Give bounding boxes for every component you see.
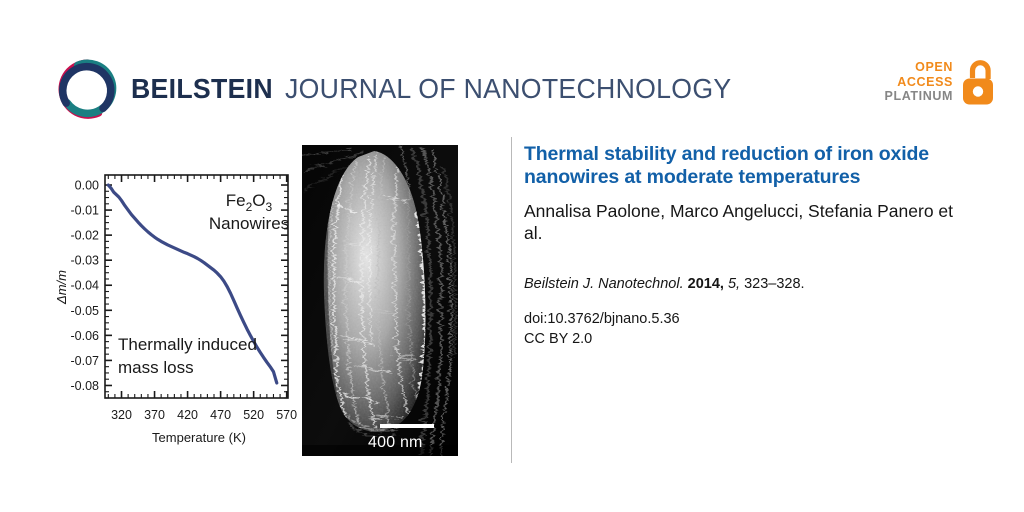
article-license[interactable]: CC BY 2.0 <box>524 329 989 350</box>
chart-y-tick-label: -0.06 <box>71 329 100 343</box>
chart-x-tick-label: 370 <box>144 408 165 422</box>
open-access-badge: OPEN ACCESS PLATINUM <box>885 58 996 106</box>
oa-line-open: OPEN <box>915 60 953 75</box>
citation-year: 2014, <box>688 276 724 292</box>
oa-line-platinum: PLATINUM <box>885 89 953 104</box>
sem-scale-bar <box>380 424 434 428</box>
citation-volume: 5, <box>728 276 740 292</box>
chart-x-tick-labels: 320370420470520570 <box>111 408 297 422</box>
chart-x-tick-label: 420 <box>177 408 198 422</box>
oa-line-access: ACCESS <box>897 75 953 90</box>
chart-y-tick-label: -0.04 <box>71 279 100 293</box>
triple-arc-logo-svg <box>52 56 122 124</box>
vertical-divider <box>511 137 512 463</box>
open-access-label-stack: OPEN ACCESS PLATINUM <box>885 60 953 104</box>
article-title[interactable]: Thermal stability and reduction of iron … <box>524 143 970 189</box>
tga-chart: 0.00-0.01-0.02-0.03-0.04-0.05-0.06-0.07-… <box>52 145 297 453</box>
figure-panel: 0.00-0.01-0.02-0.03-0.04-0.05-0.06-0.07-… <box>0 137 511 467</box>
chart-annotation-nanowires: Nanowires <box>209 214 289 233</box>
chart-y-tick-label: -0.05 <box>71 304 100 318</box>
chart-y-tick-label: 0.00 <box>75 179 99 193</box>
chart-y-axis-label: Δm/m <box>54 270 69 305</box>
chart-annotation-process-line2: mass loss <box>118 358 194 377</box>
sem-scale-bar-label: 400 nm <box>368 434 423 452</box>
sem-micrograph-svg <box>302 145 458 456</box>
sem-micrograph: 400 nm <box>302 145 458 456</box>
article-citation: Beilstein J. Nanotechnol. 2014, 5, 323–3… <box>524 275 989 294</box>
chart-y-tick-labels: 0.00-0.01-0.02-0.03-0.04-0.05-0.06-0.07-… <box>71 179 100 393</box>
chart-y-tick-label: -0.03 <box>71 254 100 268</box>
chart-y-tick-label: -0.07 <box>71 354 100 368</box>
chart-y-tick-label: -0.01 <box>71 204 100 218</box>
wordmark-beilstein: BEILSTEIN <box>131 73 273 105</box>
article-doi[interactable]: doi:10.3762/bjnano.5.36 <box>524 309 989 330</box>
article-metadata: Thermal stability and reduction of iron … <box>524 143 989 350</box>
chart-x-tick-label: 470 <box>210 408 231 422</box>
tga-chart-svg: 0.00-0.01-0.02-0.03-0.04-0.05-0.06-0.07-… <box>52 145 297 453</box>
citation-journal: Beilstein J. Nanotechnol. <box>524 276 684 292</box>
open-padlock-icon <box>960 58 996 106</box>
chart-y-tick-label: -0.02 <box>71 229 100 243</box>
journal-wordmark: BEILSTEIN JOURNAL OF NANOTECHNOLOGY <box>131 69 746 109</box>
chart-annotation-process-line1: Thermally induced <box>118 335 257 354</box>
masthead: BEILSTEIN JOURNAL OF NANOTECHNOLOGY OPEN… <box>0 0 1024 137</box>
chart-y-tick-label: -0.08 <box>71 379 100 393</box>
chart-x-axis-label: Temperature (K) <box>152 430 246 445</box>
wordmark-journal-of-nanotechnology: JOURNAL OF NANOTECHNOLOGY <box>285 73 731 105</box>
chart-x-tick-label: 520 <box>243 408 264 422</box>
chart-x-tick-label: 320 <box>111 408 132 422</box>
article-authors: Annalisa Paolone, Marco Angelucci, Stefa… <box>524 200 976 245</box>
citation-pages: 323–328. <box>744 276 804 292</box>
chart-x-tick-label: 570 <box>276 408 297 422</box>
beilstein-logo-icon <box>52 56 122 124</box>
